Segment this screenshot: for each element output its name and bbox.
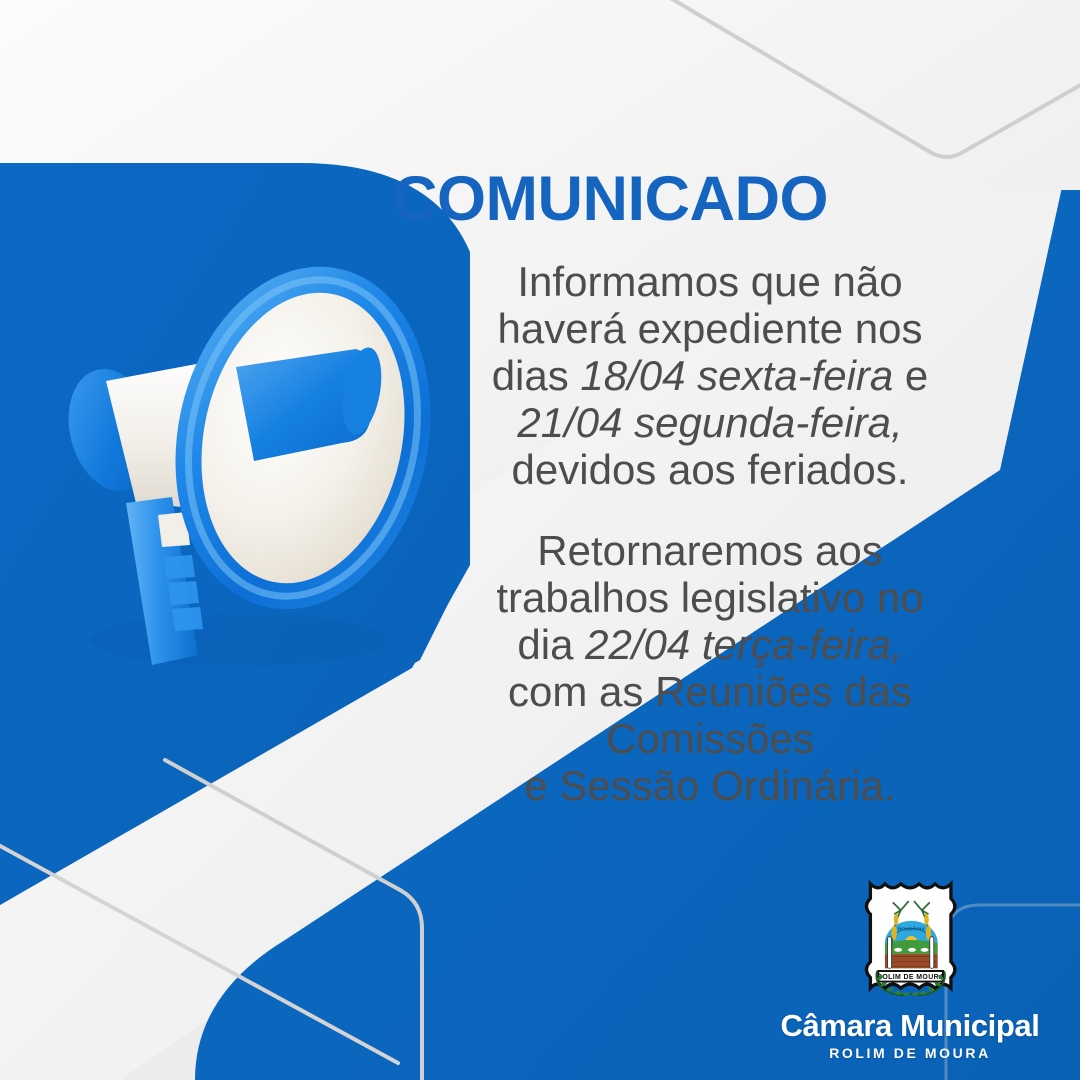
crest-banner-label: ROLIM DE MOURA xyxy=(877,974,944,981)
body-line-8: dia 22/04 terça-feira, xyxy=(430,621,990,668)
brand-subtitle: ROLIM DE MOURA xyxy=(770,1046,1050,1060)
body-line-8-date: 22/04 terça-feira, xyxy=(585,621,903,668)
coat-of-arms-icon: RONDÔNIA xyxy=(844,872,976,1004)
paragraph-gap xyxy=(430,493,990,527)
megaphone-icon xyxy=(40,185,460,685)
page-title: COMUNICADO xyxy=(392,168,952,231)
body-line-2: haverá expediente nos xyxy=(430,305,990,352)
body-line-4: 21/04 segunda-feira, xyxy=(430,399,990,446)
poster-canvas: COMUNICADO Informamos que não haverá exp… xyxy=(0,0,1080,1080)
body-line-4-date: 21/04 segunda-feira, xyxy=(517,399,902,446)
body-line-5: devidos aos feriados. xyxy=(430,446,990,493)
body-line-11: e Sessão Ordinária. xyxy=(430,762,990,809)
body-line-9: com as Reuniões das xyxy=(430,668,990,715)
body-line-7: trabalhos legislativo no xyxy=(430,574,990,621)
body-line-6: Retornaremos aos xyxy=(430,527,990,574)
announcement-body: Informamos que não haverá expediente nos… xyxy=(430,258,990,809)
body-line-3-plain: dias xyxy=(492,352,581,399)
brand-footer: RONDÔNIA xyxy=(770,872,1050,1060)
body-line-3-tail: e xyxy=(893,352,928,399)
body-line-1: Informamos que não xyxy=(430,258,990,305)
brand-name: Câmara Municipal xyxy=(770,1010,1050,1041)
body-line-3: dias 18/04 sexta-feira e xyxy=(430,352,990,399)
body-line-3-date: 18/04 sexta-feira xyxy=(580,352,893,399)
body-line-8-plain: dia xyxy=(517,621,585,668)
body-line-10: Comissões xyxy=(430,715,990,762)
